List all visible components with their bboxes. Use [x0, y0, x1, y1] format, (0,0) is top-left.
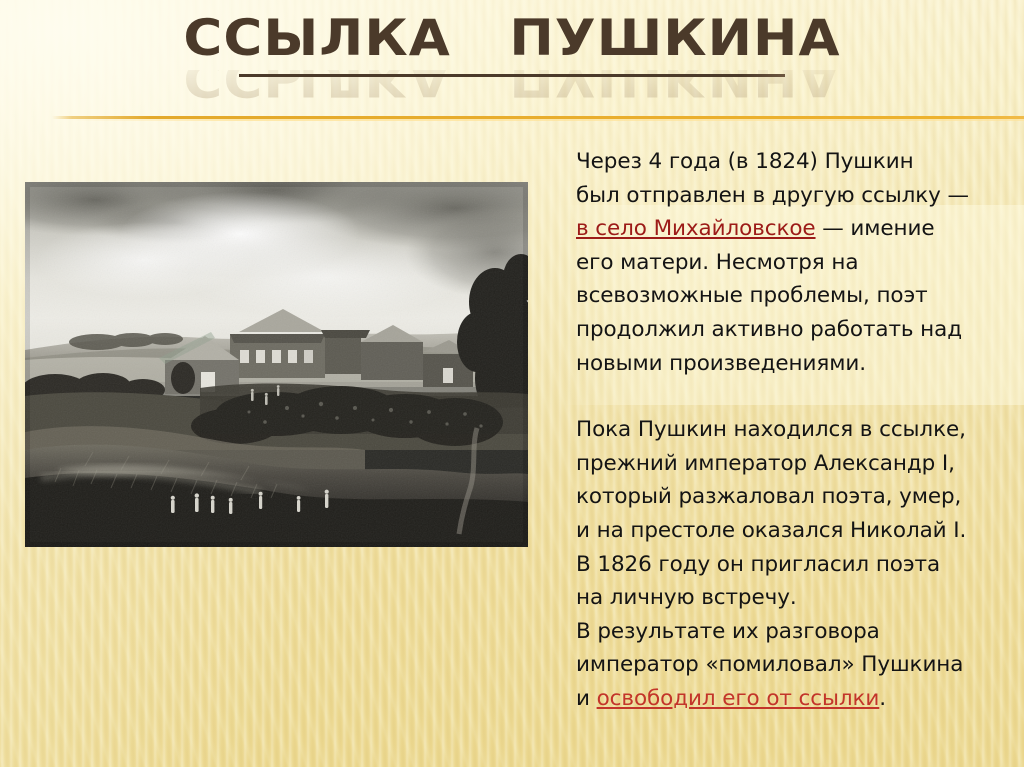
header-divider-glow [0, 119, 1024, 121]
p2-line-7: В результате их разговора [576, 619, 880, 644]
p1-line-7: новыми произведениями. [576, 351, 866, 376]
p2-line-4: и на престоле оказался Николай I. [576, 518, 966, 543]
p2-line-2: прежний император Александр I, [576, 451, 955, 476]
p2-line-8: император «помиловал» Пушкина [576, 652, 963, 677]
p2-line-1: Пока Пушкин находился в ссылке, [576, 417, 966, 442]
p2-line-9-head: и [576, 686, 597, 711]
p2-line-6: на личную встречу. [576, 585, 797, 610]
paragraph-1: Через 4 года (в 1824) Пушкин был отправл… [576, 145, 996, 380]
link-osvobodil-ot-ssylki[interactable]: освободил его от ссылки [597, 686, 880, 711]
body-copy: Через 4 года (в 1824) Пушкин был отправл… [576, 145, 996, 716]
p1-line-6: продолжил активно работать над [576, 317, 962, 342]
p1-line-3-tail: — имение [816, 216, 935, 241]
mikhailovskoye-engraving [25, 182, 528, 547]
p1-line-5: всевозможные проблемы, поэт [576, 283, 928, 308]
p2-line-5: В 1826 году он пригласил поэта [576, 552, 940, 577]
p1-line-4: его матери. Несмотря на [576, 250, 858, 275]
slide: ССЫЛКА ПУШКИНА ССЫЛКА ПУШКИНА [0, 0, 1024, 767]
paragraph-spacer [576, 380, 996, 413]
paragraph-2: Пока Пушкин находился в ссылке, прежний … [576, 413, 996, 715]
p1-line-1: Через 4 года (в 1824) Пушкин [576, 149, 914, 174]
link-mikhailovskoye[interactable]: в село Михайловское [576, 216, 816, 241]
p1-line-2: был отправлен в другую ссылку — [576, 183, 969, 208]
p2-line-9-tail: . [879, 686, 886, 711]
p2-line-3: который разжаловал поэта, умер, [576, 484, 961, 509]
